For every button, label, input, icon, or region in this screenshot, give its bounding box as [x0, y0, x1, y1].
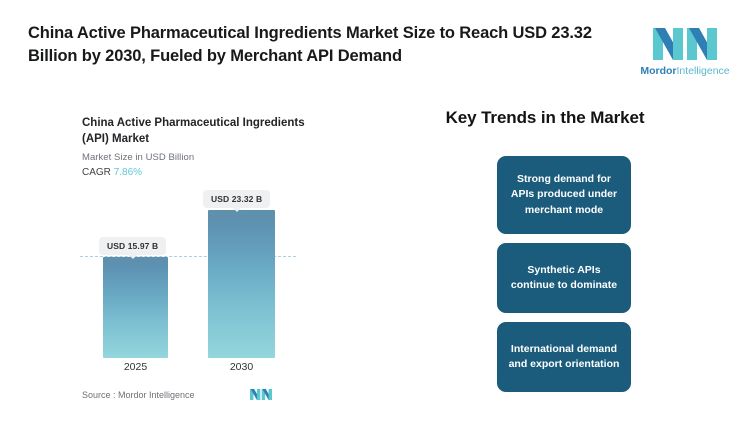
source-label: Source : Mordor Intelligence — [82, 390, 195, 400]
mordor-logo-icon — [653, 26, 717, 62]
header: China Active Pharmaceutical Ingredients … — [0, 0, 750, 96]
page-title: China Active Pharmaceutical Ingredients … — [28, 22, 628, 69]
x-axis-tick-2025: 2025 — [103, 361, 168, 373]
bar-2025[interactable] — [103, 257, 168, 358]
trend-card-2-text: Synthetic APIs continue to dominate — [505, 263, 623, 294]
trends-panel: Key Trends in the Market Strong demand f… — [380, 96, 750, 429]
trend-card-3[interactable]: International demand and export orientat… — [497, 322, 631, 392]
bar-value-label-2030: USD 23.32 B — [203, 190, 270, 208]
chart-panel: China Active Pharmaceutical Ingredients … — [0, 96, 370, 429]
bar-value-label-2025: USD 15.97 B — [99, 237, 166, 255]
brand-name-bold: Mordor — [640, 65, 676, 77]
trend-card-1[interactable]: Strong demand for APIs produced under me… — [497, 156, 631, 234]
brand-logo: MordorIntelligence — [632, 26, 738, 82]
source-row: Source : Mordor Intelligence — [82, 388, 312, 406]
brand-logo-text: MordorIntelligence — [632, 65, 738, 77]
infographic-page: China Active Pharmaceutical Ingredients … — [0, 0, 750, 429]
x-axis-tick-2030: 2030 — [208, 361, 275, 373]
brand-name-light: Intelligence — [677, 65, 730, 77]
bar-chart-plot: USD 15.97 B USD 23.32 B 2025 2030 — [0, 96, 370, 429]
trend-card-2[interactable]: Synthetic APIs continue to dominate — [497, 243, 631, 313]
source-mordor-logo-icon — [250, 388, 272, 401]
trend-card-3-text: International demand and export orientat… — [505, 342, 623, 373]
trends-title: Key Trends in the Market — [380, 108, 710, 128]
trend-card-1-text: Strong demand for APIs produced under me… — [505, 172, 623, 218]
bar-2030[interactable] — [208, 210, 275, 358]
